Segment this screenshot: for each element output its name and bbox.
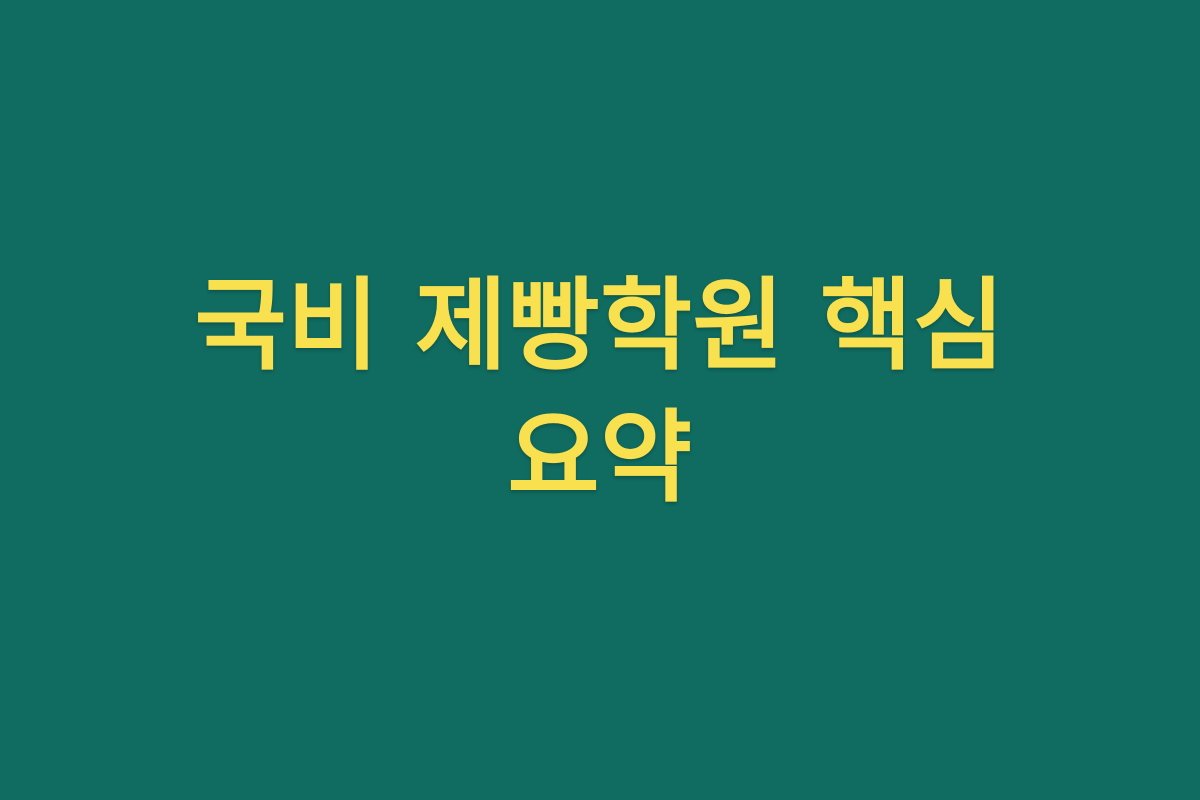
page-title: 국비 제빵학원 핵심 요약 bbox=[120, 260, 1080, 524]
title-block: 국비 제빵학원 핵심 요약 bbox=[120, 260, 1080, 524]
banner-canvas: 국비 제빵학원 핵심 요약 bbox=[0, 0, 1200, 800]
